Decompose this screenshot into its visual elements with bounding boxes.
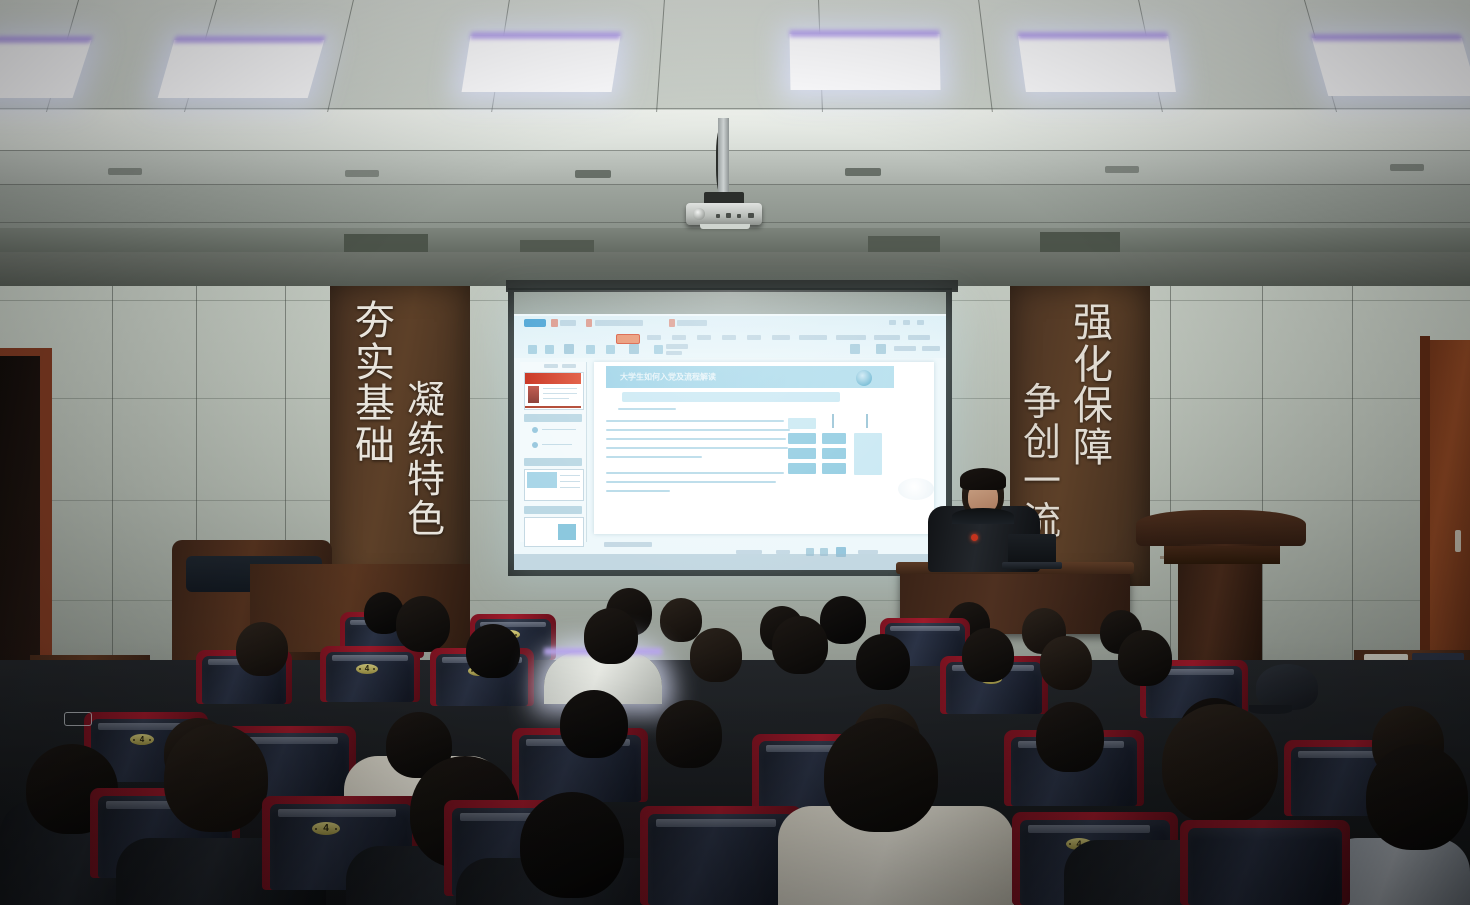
slide-badge-icon — [856, 370, 872, 386]
slide-title-text: 大学生如何入党及流程解读 — [620, 372, 716, 383]
ribbon-command-icon[interactable] — [850, 344, 860, 354]
ribbon-command-icon[interactable] — [629, 344, 639, 354]
seat-pad — [1188, 828, 1342, 905]
office-app-window: 大学生如何入党及流程解读 — [514, 314, 946, 570]
audience-head — [1040, 636, 1092, 690]
seat-strip — [278, 809, 396, 817]
ribbon-tab-label[interactable] — [697, 335, 711, 340]
ribbon-command-label[interactable] — [666, 351, 682, 355]
ribbon-tab-icon[interactable] — [669, 319, 675, 327]
nav-thumbnail-line — [543, 393, 577, 394]
audience-head — [1118, 630, 1172, 686]
nav-section-header[interactable] — [524, 414, 582, 422]
seat-pad — [648, 814, 794, 905]
slide-body-line — [606, 438, 786, 440]
slide-body-line — [606, 429, 790, 431]
ribbon-command-label[interactable] — [922, 346, 940, 351]
ceiling-light — [462, 36, 621, 92]
ribbon-tab-label[interactable] — [722, 335, 736, 340]
audience-head — [690, 628, 742, 682]
right-banner-column-2: 强 化 保 障 — [1070, 302, 1116, 468]
audience-cap — [1256, 664, 1318, 710]
ribbon-tab-label[interactable] — [747, 335, 761, 340]
seat-strip — [890, 626, 960, 631]
ribbon-tab-label[interactable] — [908, 335, 930, 340]
wall-seam — [1352, 252, 1353, 672]
ribbon-tab-label[interactable] — [772, 335, 790, 340]
flow-cell — [788, 433, 816, 444]
recessed-downlight — [1105, 166, 1139, 173]
banner-char: 保 — [1073, 385, 1113, 427]
recessed-downlight — [575, 170, 611, 178]
flow-cell — [822, 448, 846, 459]
banner-char: 凝 — [407, 382, 445, 422]
slide-body-line — [606, 420, 784, 422]
nav-thumbnail-line — [560, 475, 580, 476]
nav-thumbnail-line — [543, 388, 577, 389]
windows-taskbar[interactable] — [514, 554, 946, 570]
seat-number-plate: 4 — [130, 734, 154, 745]
ribbon-tab-label[interactable] — [647, 335, 661, 340]
banner-char: 创 — [1023, 424, 1061, 464]
audience-head — [824, 718, 938, 832]
window-control[interactable] — [889, 320, 896, 325]
right-door[interactable] — [1428, 340, 1470, 680]
ceiling-light — [1018, 36, 1176, 92]
nav-thumbnail-line — [560, 487, 580, 488]
nav-section-header[interactable] — [524, 506, 582, 514]
projector-port — [716, 214, 720, 218]
seat-strip — [332, 655, 408, 661]
audience-head — [584, 608, 638, 664]
ribbon-tab-label[interactable] — [836, 335, 866, 340]
ribbon-command-icon[interactable] — [654, 345, 663, 354]
audience-head — [656, 700, 722, 768]
projector-lens-icon — [693, 208, 705, 220]
left-banner-column-1: 夯 实 基 础 — [352, 300, 398, 466]
projection-screen: 大学生如何入党及流程解读 — [514, 314, 946, 570]
left-door-opening — [0, 356, 40, 672]
seat[interactable]: 4 — [320, 646, 420, 702]
nav-bullet-icon — [532, 442, 538, 448]
ribbon-command-icon[interactable] — [528, 345, 537, 354]
banner-char: 化 — [1073, 344, 1113, 386]
audience-head — [560, 690, 628, 758]
nav-thumb-block — [558, 524, 576, 540]
ribbon-command-icon[interactable] — [545, 345, 554, 354]
recessed-downlight — [1390, 164, 1424, 171]
slide-body-line — [606, 456, 702, 458]
projector-foot — [700, 224, 750, 229]
projector-port — [737, 214, 741, 218]
ribbon-tab-label[interactable] — [874, 335, 900, 340]
ribbon-command-label[interactable] — [894, 346, 916, 351]
wall-seam — [1262, 252, 1263, 672]
window-control[interactable] — [903, 320, 910, 325]
nav-thumbnail-photo — [528, 386, 539, 403]
flow-cell — [822, 433, 846, 444]
banner-char: 色 — [407, 501, 445, 541]
flow-arrow-icon — [866, 414, 868, 428]
audience-head — [660, 598, 702, 642]
slide-subtitle-line — [618, 408, 676, 410]
banner-char: 实 — [355, 342, 395, 384]
banner-char: 强 — [1073, 302, 1113, 344]
document-footer-label — [604, 542, 652, 547]
ribbon-tab-file[interactable] — [524, 319, 546, 327]
wall-seam — [1170, 252, 1171, 672]
seat-strip — [1028, 825, 1150, 833]
ribbon-tab-label[interactable] — [560, 320, 576, 326]
audience-head — [856, 634, 910, 690]
seat-strip — [656, 819, 776, 827]
nav-section-header[interactable] — [524, 458, 582, 466]
right-door-handle-icon[interactable] — [1455, 530, 1461, 552]
audience-head — [1162, 704, 1278, 824]
banner-char: 争 — [1023, 384, 1061, 424]
banner-char: 一 — [1023, 463, 1061, 503]
microphone-indicator-icon — [971, 534, 978, 541]
banner-char: 夯 — [355, 300, 395, 342]
window-control[interactable] — [917, 320, 924, 325]
laptop-screen — [1008, 534, 1056, 564]
slide-body-line — [606, 447, 788, 449]
left-banner-column-2: 凝 练 特 色 — [404, 382, 448, 540]
flow-cell — [854, 433, 882, 475]
projector-port — [748, 213, 754, 218]
nav-bullet-icon — [532, 427, 538, 433]
speaker-hair — [960, 468, 1006, 490]
eyeglasses-icon — [64, 712, 92, 726]
ribbon-command-icon[interactable] — [606, 345, 615, 354]
banner-char: 础 — [355, 425, 395, 467]
lecture-hall-photo: 夯 实 基 础 凝 练 特 色 争 创 一 流 强 化 保 障 — [0, 0, 1470, 905]
audience-head — [962, 628, 1014, 682]
audience-head — [236, 622, 288, 676]
slide-body-line — [606, 472, 784, 474]
speaker-collar — [952, 508, 1014, 524]
left-wall-banner — [330, 286, 470, 586]
nav-pane-tab[interactable] — [562, 364, 576, 368]
ribbon-command-icon[interactable] — [876, 344, 886, 354]
lectern-top — [1136, 510, 1306, 546]
ribbon-tab-icon[interactable] — [551, 319, 558, 327]
audience-head — [164, 724, 268, 832]
ceiling-light — [790, 34, 941, 90]
ribbon-tab-label[interactable] — [672, 335, 686, 340]
lectern-base — [1164, 546, 1280, 564]
nav-thumbnail-banner — [525, 373, 581, 384]
flow-cell — [788, 448, 816, 459]
ceiling-light — [158, 40, 325, 98]
slide-body-line — [606, 481, 776, 483]
audience-head — [1036, 702, 1104, 772]
nav-thumbnail-rule — [525, 406, 581, 408]
ceiling-vent — [1040, 232, 1120, 254]
ribbon-tab-icon[interactable] — [586, 319, 592, 327]
flow-cell — [788, 418, 816, 429]
ceiling-light — [1312, 38, 1470, 96]
audience-head — [772, 616, 828, 674]
recessed-downlight — [845, 168, 881, 176]
wall-seam — [112, 252, 113, 672]
projector-port — [726, 213, 731, 218]
slide-body-line — [606, 490, 670, 492]
screen-blank-area — [514, 292, 946, 316]
audience-head — [466, 624, 520, 678]
ribbon-tab-label[interactable] — [595, 320, 643, 326]
recessed-downlight — [108, 168, 142, 175]
nav-thumbnail-line — [543, 398, 569, 399]
banner-char: 基 — [355, 383, 395, 425]
seat[interactable] — [1180, 820, 1350, 905]
ribbon-tab-active[interactable] — [616, 334, 640, 344]
ribbon-tab-label[interactable] — [799, 335, 827, 340]
seat-number-plate: 4 — [356, 664, 378, 674]
slide-title-bar: 大学生如何入党及流程解读 — [606, 366, 894, 388]
audience-head — [1366, 744, 1468, 850]
ribbon-tab-label[interactable] — [677, 320, 707, 326]
laptop-base — [1002, 562, 1062, 569]
nav-pane-tab[interactable] — [544, 364, 558, 368]
flow-cell — [822, 463, 846, 474]
nav-thumbnail-line — [560, 481, 580, 482]
flow-cell — [788, 463, 816, 474]
audience-head — [396, 596, 450, 652]
recessed-downlight — [345, 170, 379, 177]
flow-arrow-icon — [832, 414, 834, 428]
ribbon-command-label[interactable] — [666, 344, 688, 349]
ribbon-command-icon[interactable] — [564, 344, 574, 354]
right-door-frame — [1420, 336, 1430, 680]
seat-number-plate: 4 — [312, 822, 340, 835]
audience-head — [520, 792, 624, 898]
banner-char: 练 — [407, 422, 445, 462]
banner-char: 特 — [407, 461, 445, 501]
banner-char: 障 — [1073, 427, 1113, 469]
nav-thumb-block — [527, 472, 557, 488]
screen-glare-spot — [898, 478, 934, 500]
nav-item-line[interactable] — [542, 444, 572, 445]
ribbon-command-icon[interactable] — [586, 345, 595, 354]
nav-item-line[interactable] — [542, 429, 576, 430]
slide-subtitle-bar — [622, 392, 840, 402]
